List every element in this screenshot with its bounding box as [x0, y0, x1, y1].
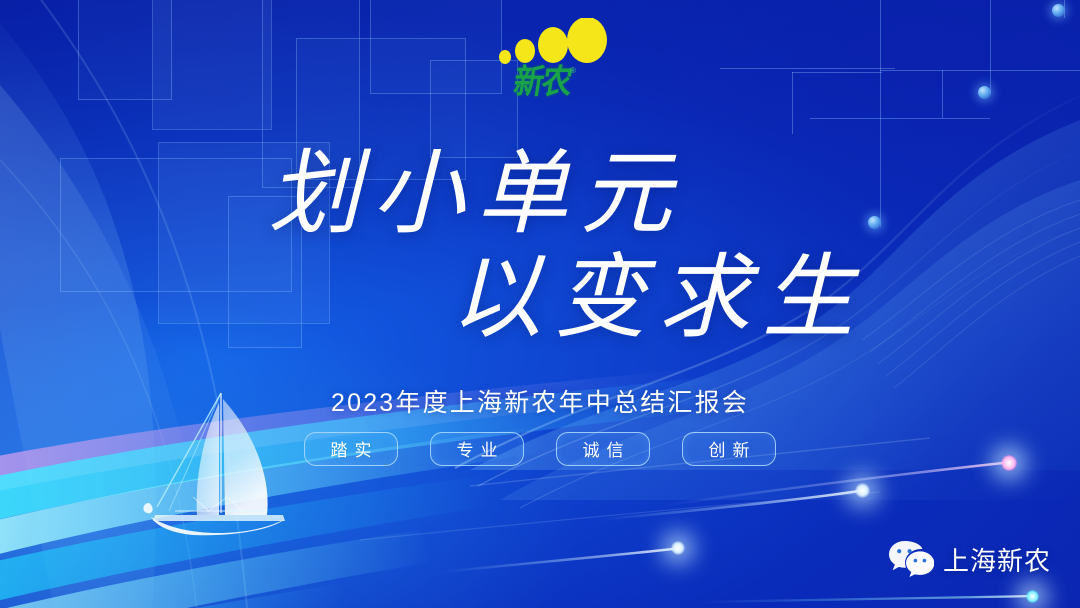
- logo-wordmark: 新农: [511, 66, 572, 100]
- headline-line-1: 划小单元: [268, 148, 1080, 240]
- comet-head-icon: [1026, 590, 1039, 603]
- tag-chengxin[interactable]: 诚信: [556, 432, 650, 466]
- subtitle: 2023年度上海新农年中总结汇报会: [0, 383, 1080, 419]
- page-title: 划小单元 以变求生: [0, 148, 1080, 344]
- tag-tashi[interactable]: 踏实: [304, 432, 398, 466]
- wechat-account-name: 上海新农: [943, 541, 1051, 578]
- poster-canvas: 新农 ® 划小单元 以变求生 2023年度上海新农年中总结汇报会 踏实 专业 诚…: [0, 0, 1080, 608]
- circuit-node-icon: [1052, 4, 1065, 17]
- logo-trademark: ®: [570, 66, 576, 75]
- tag-chuangxin[interactable]: 创新: [682, 432, 776, 466]
- wechat-icon: [888, 539, 934, 579]
- circuit-node-icon: [978, 86, 991, 99]
- value-tag-group: 踏实 专业 诚信 创新: [0, 432, 1080, 466]
- tag-zhuanye[interactable]: 专业: [430, 432, 524, 466]
- headline-line-2: 以变求生: [450, 252, 1080, 344]
- wechat-footer[interactable]: 上海新农: [888, 539, 1051, 579]
- logo-dots-icon: [496, 18, 611, 68]
- comet-head-icon: [855, 483, 870, 498]
- comet-head-icon: [671, 541, 685, 555]
- xinnong-logo: 新农 ®: [496, 18, 604, 98]
